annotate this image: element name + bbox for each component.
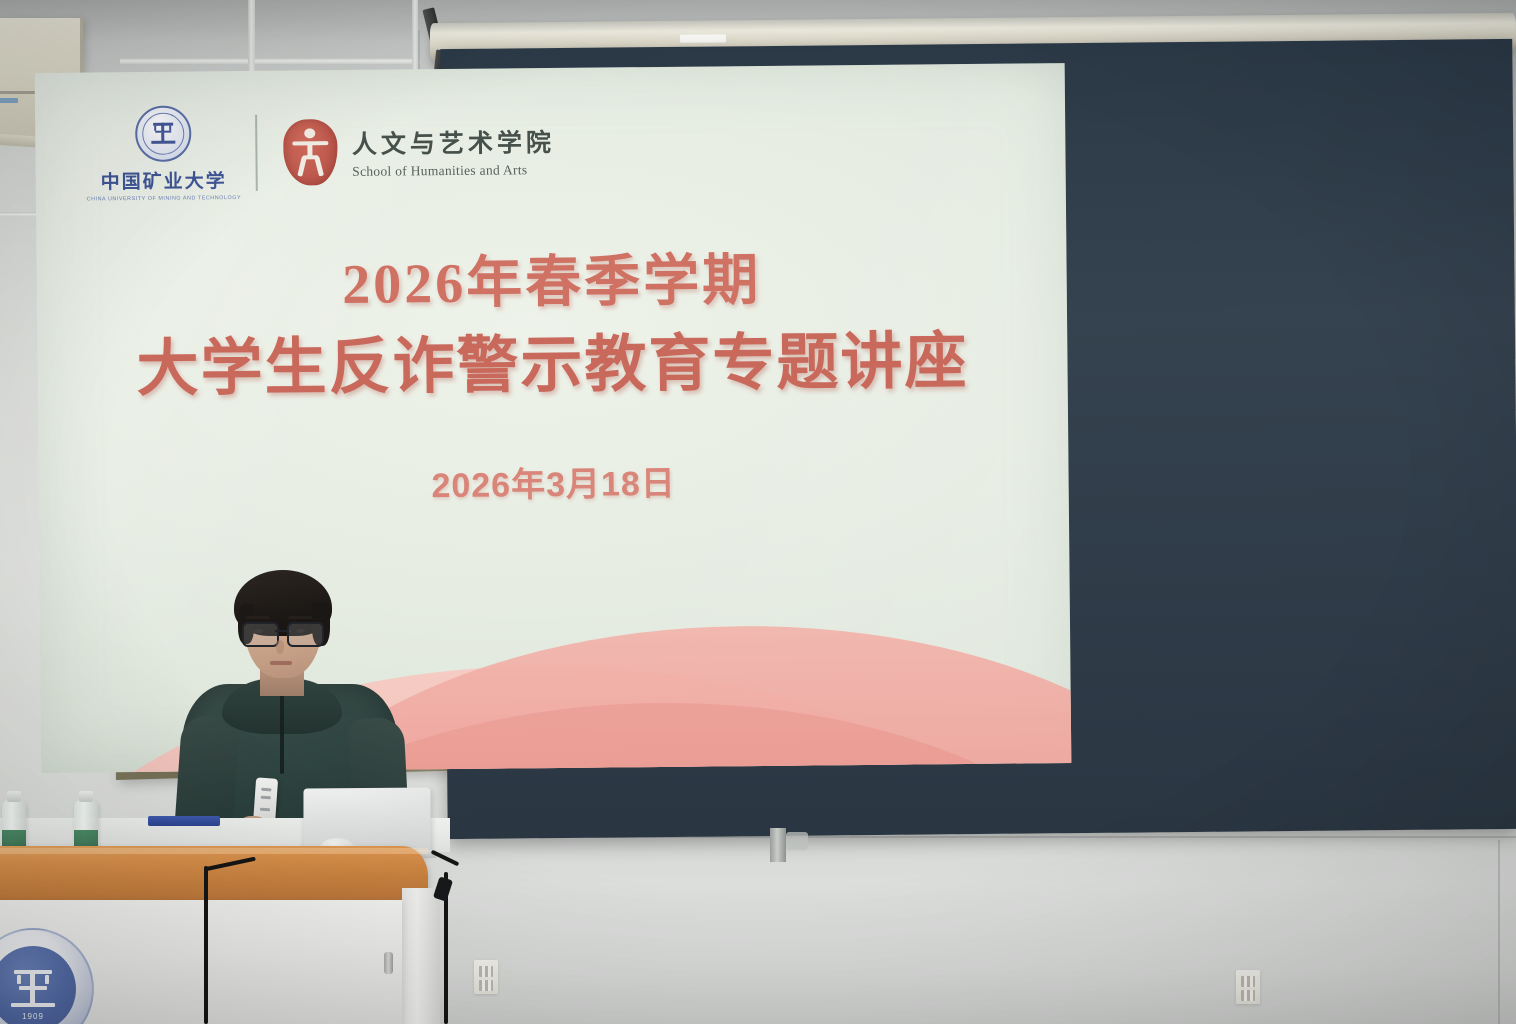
humanities-name-en: School of Humanities and Arts (352, 161, 555, 179)
cumt-logo: 中国矿业大学 CHINA UNIVERSITY OF MINING AND TE… (97, 105, 230, 202)
lecture-hall-scene: 16 59 (0, 0, 1516, 1024)
power-outlet[interactable] (474, 960, 498, 994)
presenter-nose (276, 640, 284, 654)
slide-header: 中国矿业大学 CHINA UNIVERSITY OF MINING AND TE… (97, 102, 556, 202)
humanities-name-cn: 人文与艺术学院 (352, 122, 555, 160)
screen-wall-bracket (770, 828, 786, 862)
podium-side-panel (402, 888, 440, 1024)
slide-date: 2026年3月18日 (38, 452, 1068, 511)
slide-title-line-1: 2026年春季学期 (36, 245, 1067, 321)
eyeglass-lens-left (242, 622, 279, 647)
bottle-cap (79, 791, 93, 802)
seal-figure-glyph (283, 119, 338, 186)
seal-glyph (150, 121, 176, 147)
humanities-seal-icon (283, 119, 338, 186)
outlet-socket-bottom (479, 980, 493, 991)
emblem-glyph (10, 966, 56, 1012)
outlet-socket-top (1241, 976, 1255, 987)
ac-label (0, 98, 18, 103)
presenter-mouth (270, 661, 292, 665)
presenter-brow-right (288, 616, 312, 619)
humanities-logo: 人文与艺术学院 School of Humanities and Arts (283, 117, 556, 186)
header-divider (255, 115, 257, 191)
blue-folder (148, 816, 220, 826)
wall-conduit-horizontal (120, 58, 420, 64)
housing-sticker (680, 34, 726, 42)
power-outlet[interactable] (1236, 970, 1260, 1004)
cumt-name-en: CHINA UNIVERSITY OF MINING AND TECHNOLOG… (87, 195, 242, 202)
cumt-seal-icon (135, 105, 192, 162)
podium-lock[interactable] (384, 952, 393, 974)
emblem-year: 1909 (0, 1012, 92, 1021)
slide-body: 2026年春季学期 大学生反诈警示教育专题讲座 2026年3月18日 (36, 245, 1068, 511)
podium-counter (0, 846, 428, 904)
bottle-cap (7, 791, 21, 802)
eyeglass-lens-right (287, 622, 324, 647)
outlet-socket-top (479, 966, 493, 977)
slide-title-line-2: 大学生反诈警示教育专题讲座 (37, 325, 1068, 408)
humanities-text: 人文与艺术学院 School of Humanities and Arts (352, 122, 556, 179)
jacket-zipper (280, 690, 284, 774)
outlet-socket-bottom (1241, 990, 1255, 1001)
presenter-brow-left (246, 616, 270, 619)
wall-seam-vertical (1498, 840, 1500, 1024)
cumt-name-cn: 中国矿业大学 (101, 166, 227, 194)
podium-cable (204, 866, 208, 1024)
